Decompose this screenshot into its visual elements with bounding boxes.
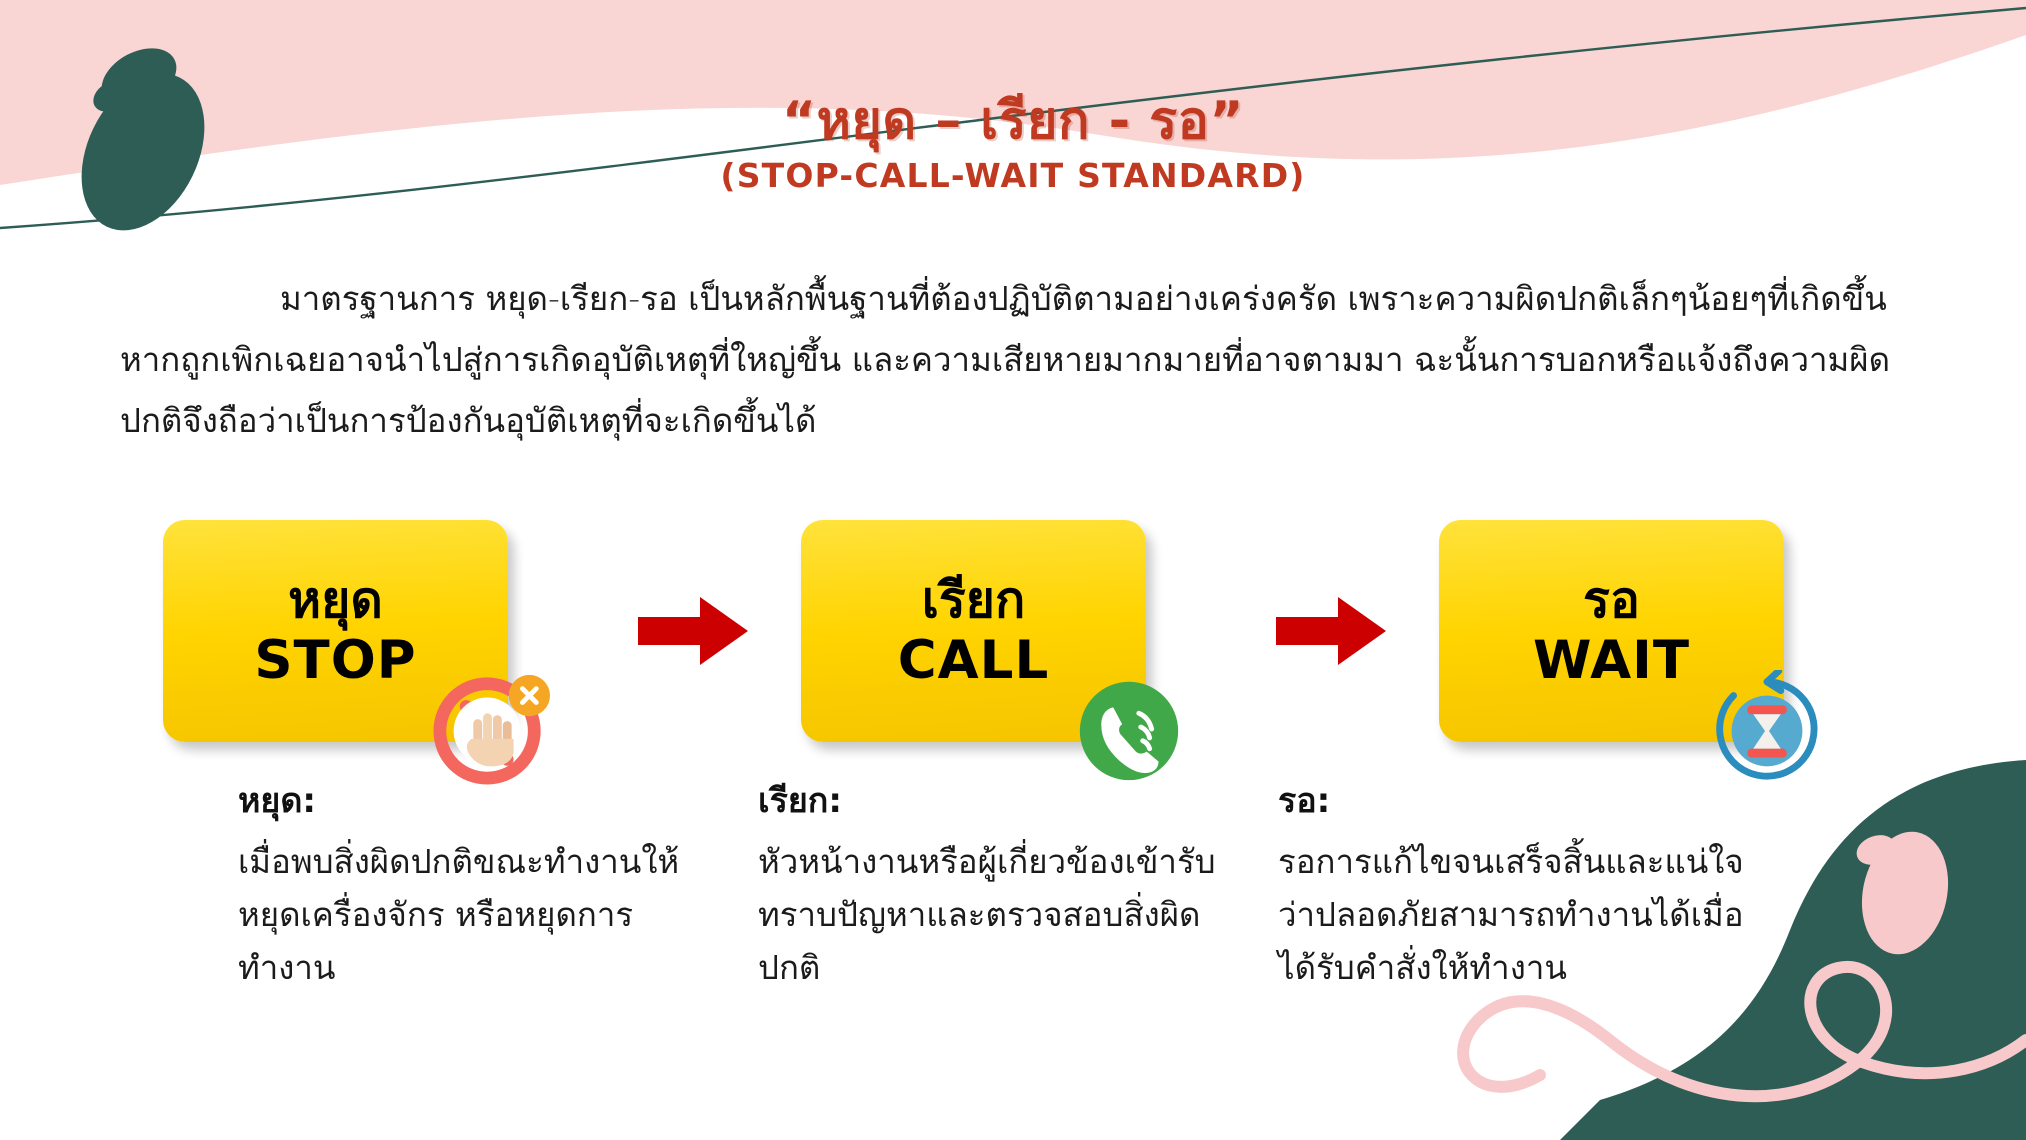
- intro-paragraph: มาตรฐานการ หยุด-เรียก-รอ เป็นหลักพื้นฐาน…: [120, 268, 1920, 451]
- phone-call-icon: [1070, 670, 1188, 788]
- caption-stop: หยุด: เมื่อพบสิ่งผิดปกติขณะทำงานให้หยุดเ…: [238, 780, 758, 995]
- caption-wait-text: รอการแก้ไขจนเสร็จสิ้นและแน่ใจว่าปลอดภัยส…: [1278, 835, 1748, 995]
- caption-stop-text: เมื่อพบสิ่งผิดปกติขณะทำงานให้หยุดเครื่อง…: [238, 835, 708, 995]
- card-call[interactable]: เรียก CALL: [801, 520, 1146, 742]
- page-title: “หยุด – เรียก - รอ”: [0, 92, 2026, 150]
- caption-call-text: หัวหน้างานหรือผู้เกี่ยวข้องเข้ารับทราบปั…: [758, 835, 1228, 995]
- card-call-thai: เรียก: [922, 572, 1026, 628]
- slide-header: “หยุด – เรียก - รอ” (STOP-CALL-WAIT STAN…: [0, 92, 2026, 196]
- flow-step-wait: รอ WAIT: [1391, 520, 1911, 742]
- flow-step-stop: หยุด STOP: [115, 520, 635, 742]
- caption-call: เรียก: หัวหน้างานหรือผู้เกี่ยวข้องเข้ารั…: [758, 780, 1278, 995]
- card-stop[interactable]: หยุด STOP: [163, 520, 508, 742]
- card-wait-english: WAIT: [1533, 632, 1690, 690]
- intro-paragraph-text: มาตรฐานการ หยุด-เรียก-รอ เป็นหลักพื้นฐาน…: [120, 268, 1920, 451]
- card-stop-english: STOP: [254, 632, 416, 690]
- caption-row: หยุด: เมื่อพบสิ่งผิดปกติขณะทำงานให้หยุดเ…: [0, 780, 2026, 995]
- caption-wait: รอ: รอการแก้ไขจนเสร็จสิ้นและแน่ใจว่าปลอด…: [1278, 780, 1798, 995]
- card-call-english: CALL: [898, 632, 1049, 690]
- flow-arrow-2: [1273, 520, 1391, 742]
- card-stop-thai: หยุด: [288, 572, 383, 628]
- page-subtitle: (STOP-CALL-WAIT STANDARD): [0, 156, 2026, 196]
- card-wait[interactable]: รอ WAIT: [1439, 520, 1784, 742]
- caption-wait-label: รอ:: [1278, 780, 1798, 823]
- stop-hand-icon: [432, 670, 550, 788]
- arrow-right-icon: [1276, 591, 1388, 671]
- flow-step-call: เรียก CALL: [753, 520, 1273, 742]
- caption-stop-label: หยุด:: [238, 780, 758, 823]
- slide-canvas: “หยุด – เรียก - รอ” (STOP-CALL-WAIT STAN…: [0, 0, 2026, 1140]
- hourglass-icon: [1708, 670, 1826, 788]
- caption-call-label: เรียก:: [758, 780, 1278, 823]
- flow-arrow-1: [635, 520, 753, 742]
- card-wait-thai: รอ: [1583, 572, 1640, 628]
- flow-diagram: หยุด STOP: [0, 520, 2026, 742]
- arrow-right-icon: [638, 591, 750, 671]
